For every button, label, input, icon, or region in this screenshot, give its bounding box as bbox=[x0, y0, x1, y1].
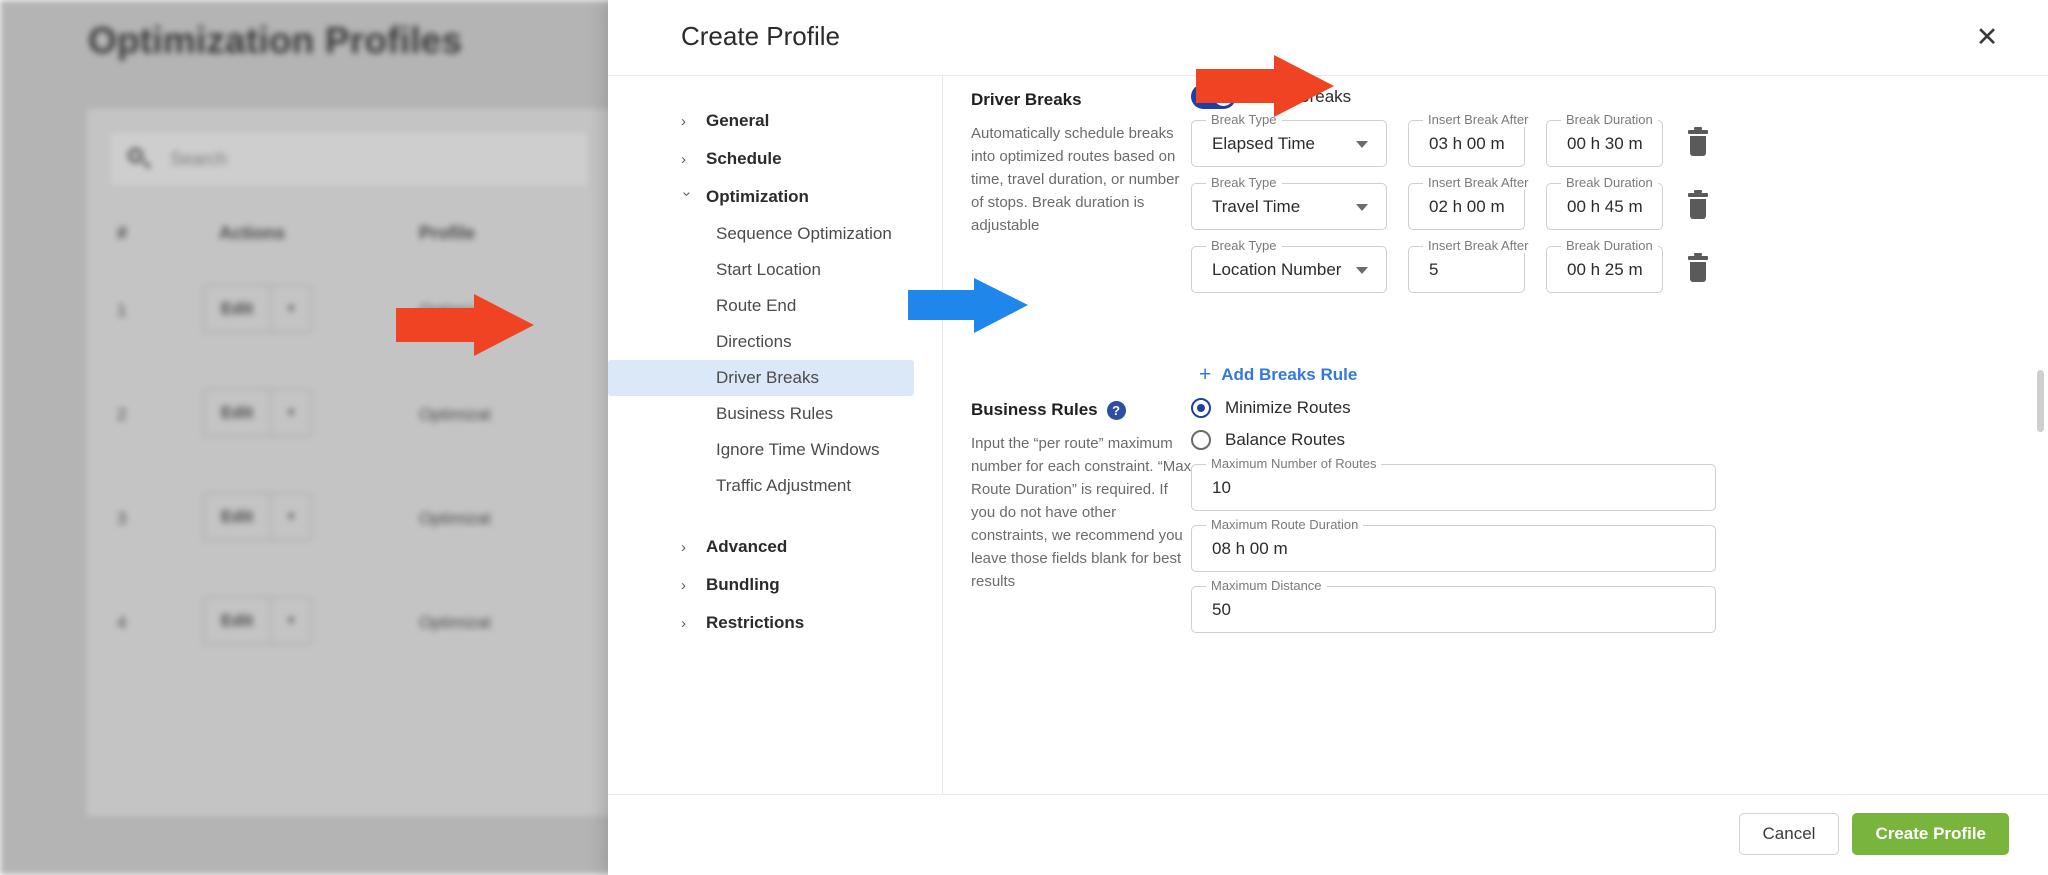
driver-breaks-description-block: Driver Breaks Automatically schedule bre… bbox=[971, 90, 1193, 238]
chevron-down-icon: › bbox=[680, 191, 695, 203]
chevron-down-icon[interactable]: ▼ bbox=[271, 390, 311, 436]
break-type-value: Elapsed Time bbox=[1192, 134, 1315, 154]
break-duration-input[interactable]: Break Duration 00 h 30 m bbox=[1546, 120, 1663, 167]
nav-group-label: Optimization bbox=[706, 187, 809, 207]
sidebar-item-ignore-time-windows[interactable]: Ignore Time Windows bbox=[608, 432, 914, 468]
maximum-distance-label: Maximum Distance bbox=[1206, 578, 1327, 593]
chevron-down-icon[interactable]: ▼ bbox=[271, 494, 311, 540]
nav-group-schedule[interactable]: › Schedule bbox=[608, 140, 942, 178]
radio-minimize-routes[interactable] bbox=[1191, 398, 1211, 418]
minimize-routes-radio-row[interactable]: Minimize Routes bbox=[1191, 398, 1716, 418]
screen: Optimization Profiles Search # Actions P… bbox=[0, 0, 2048, 875]
insert-break-after-label: Insert Break After bbox=[1423, 175, 1533, 190]
maximum-distance-value: 50 bbox=[1192, 600, 1231, 620]
nav-group-restrictions[interactable]: › Restrictions bbox=[608, 604, 942, 642]
background-search-input[interactable]: Search bbox=[109, 131, 589, 187]
row-actions[interactable]: Edit ▼ bbox=[203, 493, 312, 541]
row-index: 3 bbox=[117, 509, 126, 529]
nav-group-label: Advanced bbox=[706, 537, 787, 557]
break-type-label: Break Type bbox=[1206, 238, 1282, 253]
table-row[interactable]: 3 Edit ▼ Optimizat bbox=[89, 471, 649, 575]
sidebar-item-route-end[interactable]: Route End bbox=[608, 288, 914, 324]
modal-header: Create Profile ✕ bbox=[608, 0, 2048, 75]
row-actions[interactable]: Edit ▼ bbox=[203, 597, 312, 645]
maximum-number-of-routes-input[interactable]: Maximum Number of Routes 10 bbox=[1191, 464, 1716, 511]
chevron-right-icon: › bbox=[681, 114, 693, 129]
chevron-down-icon[interactable]: ▼ bbox=[271, 286, 311, 332]
driver-breaks-description: Automatically schedule breaks into optim… bbox=[971, 123, 1193, 238]
break-duration-label: Break Duration bbox=[1561, 112, 1658, 127]
chevron-down-icon bbox=[1356, 141, 1368, 148]
insert-break-after-input[interactable]: Insert Break After 03 h 00 m bbox=[1408, 120, 1525, 167]
minimize-routes-label: Minimize Routes bbox=[1225, 398, 1351, 418]
break-type-value: Location Number bbox=[1192, 260, 1341, 280]
chevron-down-icon[interactable]: ▼ bbox=[271, 598, 311, 644]
search-placeholder: Search bbox=[170, 149, 227, 170]
balance-routes-label: Balance Routes bbox=[1225, 430, 1345, 450]
modal-body: › General › Schedule › Optimization Sequ… bbox=[608, 75, 2048, 795]
radio-balance-routes[interactable] bbox=[1191, 430, 1211, 450]
break-type-select[interactable]: Break Type Elapsed Time bbox=[1191, 120, 1387, 167]
business-rules-description-block: Business Rules ? Input the “per route” m… bbox=[971, 400, 1193, 594]
edit-button[interactable]: Edit bbox=[204, 494, 271, 540]
break-type-select[interactable]: Break Type Location Number bbox=[1191, 246, 1387, 293]
table-row[interactable]: 1 Edit ▼ Optimizat bbox=[89, 263, 649, 367]
row-profile: Optimizat bbox=[419, 509, 491, 529]
modal-scrollbar[interactable] bbox=[2037, 370, 2044, 432]
driver-breaks-title: Driver Breaks bbox=[971, 90, 1193, 110]
break-rule-row: Break Type Elapsed Time Insert Break Aft… bbox=[1191, 120, 1710, 167]
break-rules-list: Break Type Elapsed Time Insert Break Aft… bbox=[1191, 120, 1710, 309]
add-breaks-rule-button[interactable]: + Add Breaks Rule bbox=[1199, 364, 1357, 385]
row-index: 4 bbox=[117, 613, 126, 633]
insert-break-after-label: Insert Break After bbox=[1423, 112, 1533, 127]
insert-break-after-value: 02 h 00 m bbox=[1409, 197, 1505, 217]
edit-button[interactable]: Edit bbox=[204, 598, 271, 644]
break-type-label: Break Type bbox=[1206, 175, 1282, 190]
search-icon bbox=[128, 148, 143, 163]
close-icon[interactable]: ✕ bbox=[1965, 15, 2009, 59]
break-rule-row: Break Type Location Number Insert Break … bbox=[1191, 246, 1710, 293]
business-rules-heading-text: Business Rules bbox=[971, 400, 1098, 420]
trash-icon[interactable] bbox=[1686, 130, 1710, 157]
modal-title: Create Profile bbox=[681, 21, 840, 52]
sidebar-item-directions[interactable]: Directions bbox=[608, 324, 914, 360]
break-duration-label: Break Duration bbox=[1561, 238, 1658, 253]
insert-break-after-input[interactable]: Insert Break After 02 h 00 m bbox=[1408, 183, 1525, 230]
chevron-down-icon bbox=[1356, 267, 1368, 274]
cancel-button[interactable]: Cancel bbox=[1739, 813, 1840, 855]
row-profile: Optimizat bbox=[419, 301, 491, 321]
table-row[interactable]: 4 Edit ▼ Optimizat bbox=[89, 575, 649, 679]
break-type-value: Travel Time bbox=[1192, 197, 1300, 217]
plus-icon: + bbox=[1199, 364, 1211, 385]
chevron-right-icon: › bbox=[681, 540, 693, 555]
background-profiles-card: Search # Actions Profile 1 Edit ▼ Optimi… bbox=[88, 110, 648, 815]
break-type-select[interactable]: Break Type Travel Time bbox=[1191, 183, 1387, 230]
footer-actions: Cancel Create Profile bbox=[1739, 813, 2009, 855]
column-header-actions: Actions bbox=[219, 223, 285, 244]
break-duration-value: 00 h 45 m bbox=[1547, 197, 1643, 217]
nav-group-general[interactable]: › General bbox=[608, 102, 942, 140]
sidebar-item-start-location[interactable]: Start Location bbox=[608, 252, 914, 288]
nav-spacer bbox=[608, 504, 942, 528]
maximum-route-duration-label: Maximum Route Duration bbox=[1206, 517, 1363, 532]
driver-breaks-heading-text: Driver Breaks bbox=[971, 90, 1082, 110]
add-breaks-rule-label: Add Breaks Rule bbox=[1221, 365, 1357, 385]
sidebar-item-traffic-adjustment[interactable]: Traffic Adjustment bbox=[608, 468, 914, 504]
sidebar-item-driver-breaks[interactable]: Driver Breaks bbox=[608, 360, 914, 396]
sidebar-item-business-rules[interactable]: Business Rules bbox=[608, 396, 914, 432]
balance-routes-radio-row[interactable]: Balance Routes bbox=[1191, 430, 1716, 450]
nav-group-label: General bbox=[706, 111, 769, 131]
business-rules-controls: Minimize Routes Balance Routes Maximum N… bbox=[1191, 398, 1716, 633]
row-profile: Optimizat bbox=[419, 613, 491, 633]
chevron-right-icon: › bbox=[681, 578, 693, 593]
nav-group-label: Bundling bbox=[706, 575, 780, 595]
row-actions[interactable]: Edit ▼ bbox=[203, 285, 312, 333]
maximum-number-of-routes-value: 10 bbox=[1192, 478, 1231, 498]
business-rules-title: Business Rules ? bbox=[971, 400, 1193, 420]
create-profile-modal: Create Profile ✕ › General › Schedule › … bbox=[608, 0, 2048, 875]
business-rules-description: Input the “per route” maximum number for… bbox=[971, 433, 1193, 594]
maximum-distance-input[interactable]: Maximum Distance 50 bbox=[1191, 586, 1716, 633]
insert-break-after-input[interactable]: Insert Break After 5 bbox=[1408, 246, 1525, 293]
nav-group-label: Schedule bbox=[706, 149, 782, 169]
chevron-right-icon: › bbox=[681, 616, 693, 631]
maximum-route-duration-value: 08 h 00 m bbox=[1192, 539, 1288, 559]
edit-button[interactable]: Edit bbox=[204, 286, 271, 332]
break-duration-input[interactable]: Break Duration 00 h 25 m bbox=[1546, 246, 1663, 293]
insert-breaks-label: Insert Breaks bbox=[1251, 87, 1351, 107]
break-type-label: Break Type bbox=[1206, 112, 1282, 127]
nav-group-label: Restrictions bbox=[706, 613, 804, 633]
create-profile-button[interactable]: Create Profile bbox=[1852, 813, 2009, 855]
trash-icon[interactable] bbox=[1686, 193, 1710, 220]
nav-group-optimization[interactable]: › Optimization bbox=[608, 178, 942, 216]
maximum-number-of-routes-label: Maximum Number of Routes bbox=[1206, 456, 1381, 471]
sidebar-item-sequence-optimization[interactable]: Sequence Optimization bbox=[608, 216, 914, 252]
toggle-knob bbox=[1214, 87, 1233, 106]
row-actions[interactable]: Edit ▼ bbox=[203, 389, 312, 437]
insert-breaks-toggle[interactable] bbox=[1191, 84, 1236, 109]
settings-nav: › General › Schedule › Optimization Sequ… bbox=[608, 76, 943, 794]
break-duration-input[interactable]: Break Duration 00 h 45 m bbox=[1546, 183, 1663, 230]
help-circle-icon[interactable]: ? bbox=[1107, 401, 1126, 420]
insert-breaks-toggle-row[interactable]: Insert Breaks bbox=[1191, 84, 1351, 109]
row-profile: Optimizat bbox=[419, 405, 491, 425]
settings-content: Driver Breaks Automatically schedule bre… bbox=[943, 76, 2048, 794]
table-row[interactable]: 2 Edit ▼ Optimizat bbox=[89, 367, 649, 471]
nav-group-bundling[interactable]: › Bundling bbox=[608, 566, 942, 604]
maximum-route-duration-input[interactable]: Maximum Route Duration 08 h 00 m bbox=[1191, 525, 1716, 572]
break-duration-value: 00 h 30 m bbox=[1547, 134, 1643, 154]
chevron-right-icon: › bbox=[681, 152, 693, 167]
edit-button[interactable]: Edit bbox=[204, 390, 271, 436]
trash-icon[interactable] bbox=[1686, 256, 1710, 283]
break-rule-row: Break Type Travel Time Insert Break Afte… bbox=[1191, 183, 1710, 230]
insert-break-after-value: 03 h 00 m bbox=[1409, 134, 1505, 154]
break-duration-value: 00 h 25 m bbox=[1547, 260, 1643, 280]
break-duration-label: Break Duration bbox=[1561, 175, 1658, 190]
column-header-index: # bbox=[117, 223, 127, 244]
row-index: 1 bbox=[117, 301, 126, 321]
background-page-title: Optimization Profiles bbox=[88, 20, 462, 62]
nav-group-advanced[interactable]: › Advanced bbox=[608, 528, 942, 566]
chevron-down-icon bbox=[1356, 204, 1368, 211]
modal-footer: Cancel Create Profile bbox=[608, 795, 2048, 873]
insert-break-after-label: Insert Break After bbox=[1423, 238, 1533, 253]
column-header-profile: Profile bbox=[419, 223, 475, 244]
background-table-header: # Actions Profile bbox=[89, 207, 649, 263]
row-index: 2 bbox=[117, 405, 126, 425]
insert-break-after-value: 5 bbox=[1409, 260, 1438, 280]
